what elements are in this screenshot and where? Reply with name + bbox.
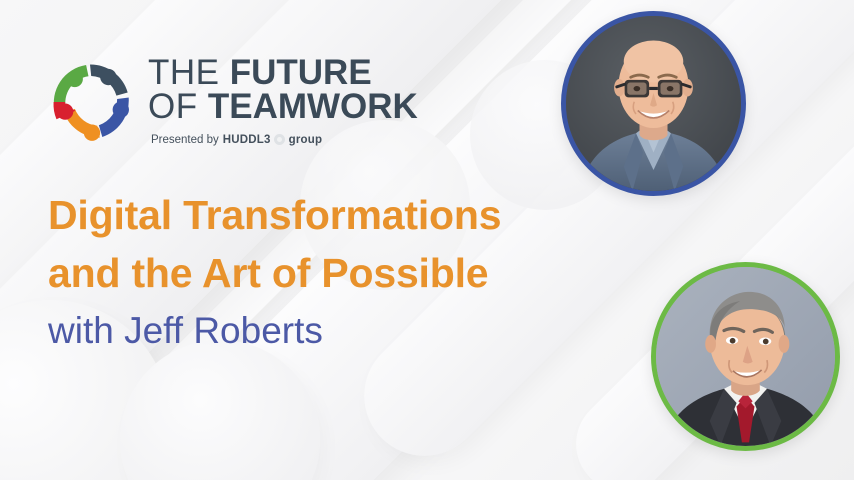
logo-word-of: OF	[148, 87, 198, 126]
logo-word-future: FUTURE	[230, 53, 372, 92]
presented-by-line: Presented by HUDDL3 group	[151, 134, 418, 146]
huddl3-dot-icon	[274, 134, 285, 145]
huddl3-brand-label: HUDDL3	[223, 134, 271, 146]
brand-logo-lockup: THE FUTURE OF TEAMWORK Presented by HUDD…	[44, 48, 418, 150]
logo-line-1: THE FUTURE	[148, 56, 418, 90]
logo-line-2: OF TEAMWORK	[148, 90, 418, 124]
logo-word-teamwork: TEAMWORK	[208, 87, 418, 126]
logo-wordmark: THE FUTURE OF TEAMWORK Presented by HUDD…	[148, 48, 418, 146]
presenter-name: with Jeff Roberts	[48, 310, 323, 352]
headshot-guest	[651, 262, 840, 451]
episode-title-line-2: and the Art of Possible	[48, 244, 608, 302]
presented-by-label: Presented by	[151, 134, 219, 146]
episode-title: Digital Transformations and the Art of P…	[48, 186, 608, 302]
webinar-title-slide: THE FUTURE OF TEAMWORK Presented by HUDD…	[0, 0, 854, 480]
background-blob	[120, 340, 320, 480]
future-of-teamwork-logo-icon	[44, 54, 140, 150]
logo-word-the: THE	[148, 53, 220, 92]
episode-title-line-1: Digital Transformations	[48, 186, 608, 244]
headshot-guest-portrait	[656, 267, 835, 446]
headshot-host	[561, 11, 746, 196]
huddl3-group-label: group	[289, 134, 323, 146]
headshot-host-portrait	[566, 16, 741, 191]
